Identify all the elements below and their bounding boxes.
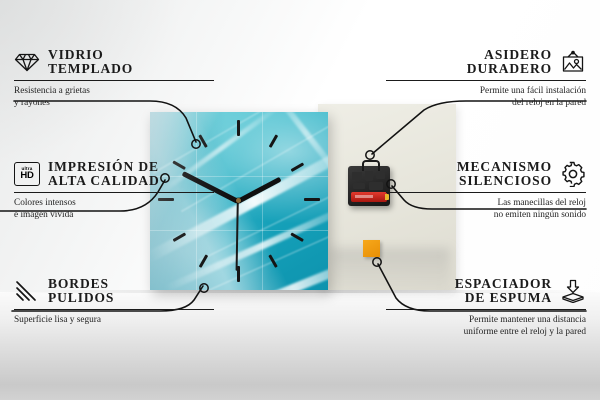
feature-impresion-alta-calidad: ultra HD IMPRESIÓN DE ALTA CALIDAD Color… (14, 160, 214, 221)
feature-description: Superficie lisa y segura (14, 314, 214, 326)
feature-description: Las manecillas del reloj no emiten ningú… (386, 197, 586, 222)
infographic-canvas: VIDRIO TEMPLADO Resistencia a grietas y … (0, 0, 600, 400)
feature-title-line1: ESPACIADOR (455, 277, 552, 291)
feature-title-line1: IMPRESIÓN DE (48, 160, 160, 174)
polished-edges-icon (14, 278, 40, 304)
feature-asidero-duradero: ASIDERO DURADERO Permite una fácil insta… (386, 48, 586, 109)
feature-divider (386, 80, 586, 81)
feature-divider (14, 80, 214, 81)
feature-divider (386, 309, 586, 310)
mechanism-detail (376, 172, 385, 179)
feature-divider (14, 192, 214, 193)
feature-title-line1: ASIDERO (467, 48, 552, 62)
feature-vidrio-templado: VIDRIO TEMPLADO Resistencia a grietas y … (14, 48, 214, 109)
feature-bordes-pulidos: BORDES PULIDOS Superficie lisa y segura (14, 277, 214, 326)
clock-battery (351, 192, 387, 202)
feature-title-line1: VIDRIO (48, 48, 133, 62)
feature-divider (386, 192, 586, 193)
feature-description: Permite mantener una distancia uniforme … (386, 314, 586, 339)
clock-mechanism (348, 166, 390, 206)
feature-title-line2: SILENCIOSO (457, 174, 552, 188)
feature-title-line2: ALTA CALIDAD (48, 174, 160, 188)
feature-description: Colores intensos e imagen vívida (14, 197, 214, 222)
foam-spacer-sample (363, 240, 380, 257)
ultra-hd-icon: ultra HD (14, 161, 40, 187)
feature-title-line2: DURADERO (467, 62, 552, 76)
feature-title-line2: TEMPLADO (48, 62, 133, 76)
gear-icon (560, 161, 586, 187)
mechanism-detail (353, 183, 365, 189)
hanging-frame-icon (560, 49, 586, 75)
foam-spacer-icon (560, 278, 586, 304)
feature-title-line1: BORDES (48, 277, 114, 291)
feature-divider (14, 309, 214, 310)
mechanism-detail (369, 182, 383, 190)
feature-description: Permite una fácil instalación del reloj … (386, 85, 586, 110)
feature-description: Resistencia a grietas y rayones (14, 85, 214, 110)
feature-title-line1: MECANISMO (457, 160, 552, 174)
diamond-icon (14, 49, 40, 75)
clock-hanging-hook (362, 160, 380, 171)
ultra-hd-icon-large-text: HD (20, 171, 33, 181)
battery-label-band (355, 195, 373, 198)
feature-mecanismo-silencioso: MECANISMO SILENCIOSO Las manecillas del … (386, 160, 586, 221)
feature-title-line2: PULIDOS (48, 291, 114, 305)
mechanism-detail (365, 171, 373, 181)
mechanism-detail (352, 172, 362, 180)
feature-title-line2: DE ESPUMA (455, 291, 552, 305)
feature-espaciador-de-espuma: ESPACIADOR DE ESPUMA Permite mantener un… (386, 277, 586, 338)
